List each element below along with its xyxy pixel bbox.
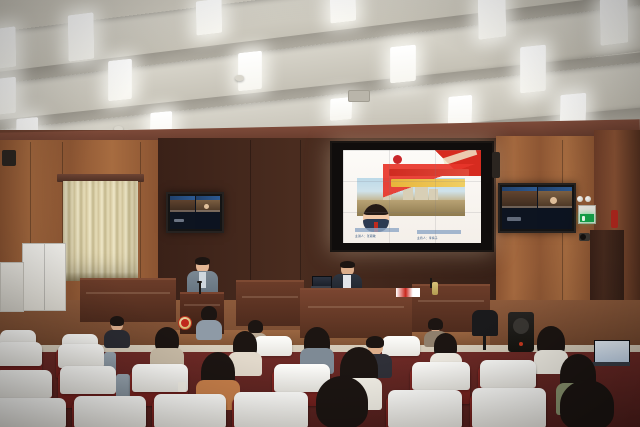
- lectern-emblem: [178, 316, 192, 330]
- right-wall-monitor[interactable]: [498, 183, 576, 233]
- slide-host-bar: [417, 230, 461, 234]
- hair: [340, 261, 355, 268]
- storage-cabinet: [0, 262, 24, 312]
- wall-camera-icon: [579, 233, 590, 241]
- projection-screen[interactable]: 主讲人：张期敏 主持人：李梅子: [330, 141, 494, 252]
- seat-headrest-cover: [58, 344, 104, 368]
- ceiling-light-panel: [330, 0, 356, 24]
- wall-recess-right: [590, 230, 624, 310]
- video-tile[interactable]: [196, 196, 221, 212]
- audience-member: [104, 318, 130, 346]
- ceiling-light-panel: [390, 45, 416, 84]
- seat-headrest-cover: [0, 370, 52, 398]
- ceiling-light-panel: [520, 45, 546, 94]
- video-tile[interactable]: [502, 209, 537, 230]
- panel-seam: [250, 140, 251, 302]
- left-wall-monitor[interactable]: [166, 192, 224, 233]
- ceiling-light-panel: [0, 77, 16, 116]
- chair-leg: [483, 336, 486, 350]
- wall-speaker-icon: [492, 152, 500, 178]
- seat-headrest-cover: [480, 360, 536, 388]
- ceiling-light-panel: [108, 59, 132, 102]
- pa-loudspeaker: [508, 312, 534, 352]
- microphone-icon: [197, 281, 202, 283]
- storage-cabinet: [22, 243, 66, 311]
- presenter-laptop[interactable]: [312, 276, 330, 288]
- bench-left-wing: [236, 280, 304, 326]
- slide-speaker-label: 主讲人：张期敏: [355, 234, 376, 238]
- slide-emblem-icon: [393, 155, 402, 164]
- smoke-detector-icon: [235, 75, 244, 81]
- water-bottle: [432, 282, 438, 295]
- emergency-light-icon: [577, 196, 583, 202]
- shirt: [343, 275, 351, 289]
- seat-headrest-cover: [154, 394, 226, 427]
- stage-chair[interactable]: [472, 310, 498, 336]
- audience-member: [312, 382, 372, 427]
- seat-number-plate: [178, 382, 186, 392]
- ceiling-light-panel: [68, 12, 95, 61]
- audience-member: [196, 308, 222, 338]
- slide-title-line2: [391, 179, 465, 187]
- slide-speaker-bar: [355, 228, 399, 232]
- microphone-icon: [199, 282, 201, 294]
- side-bench-left: [80, 278, 176, 322]
- hair: [195, 257, 210, 265]
- seat-headrest-cover: [388, 390, 462, 427]
- emergency-light-icon: [585, 196, 591, 202]
- video-tile[interactable]: [170, 196, 195, 212]
- auditorium-scene: 主讲人：张期敏 主持人：李梅子: [0, 0, 640, 427]
- seat-headrest-cover: [74, 396, 146, 427]
- ceiling-light-panel: [478, 0, 507, 40]
- slide-title-line1: [389, 169, 469, 176]
- fire-extinguisher-icon: [611, 210, 618, 228]
- ceiling-light-panel: [0, 26, 16, 69]
- seat-headrest-cover: [0, 342, 42, 366]
- ceiling-light-panel: [196, 0, 222, 36]
- window-curtain: [63, 181, 138, 281]
- ceiling-vent-icon: [348, 90, 370, 102]
- desk-nameplate: [396, 288, 420, 297]
- seat-headrest-cover: [412, 362, 470, 390]
- audience-member: [556, 386, 618, 427]
- panel-seam: [300, 140, 301, 302]
- video-tile[interactable]: [502, 187, 537, 208]
- seat-headrest-cover: [472, 388, 546, 427]
- ceiling-light-panel: [238, 51, 262, 92]
- video-tile[interactable]: [538, 187, 573, 208]
- presentation-slide: 主讲人：张期敏 主持人：李梅子: [343, 150, 481, 243]
- exit-sign-icon: [580, 214, 594, 222]
- wall-speaker-icon: [2, 150, 16, 166]
- ceiling-light-panel: [600, 0, 629, 46]
- video-tile[interactable]: [170, 213, 195, 229]
- seat-headrest-cover: [234, 392, 308, 427]
- seat-headrest-cover: [60, 366, 116, 394]
- slide-host-label: 主持人：李梅子: [417, 236, 438, 240]
- seat-headrest-cover: [0, 398, 66, 427]
- emergency-exit-sign: [578, 205, 596, 224]
